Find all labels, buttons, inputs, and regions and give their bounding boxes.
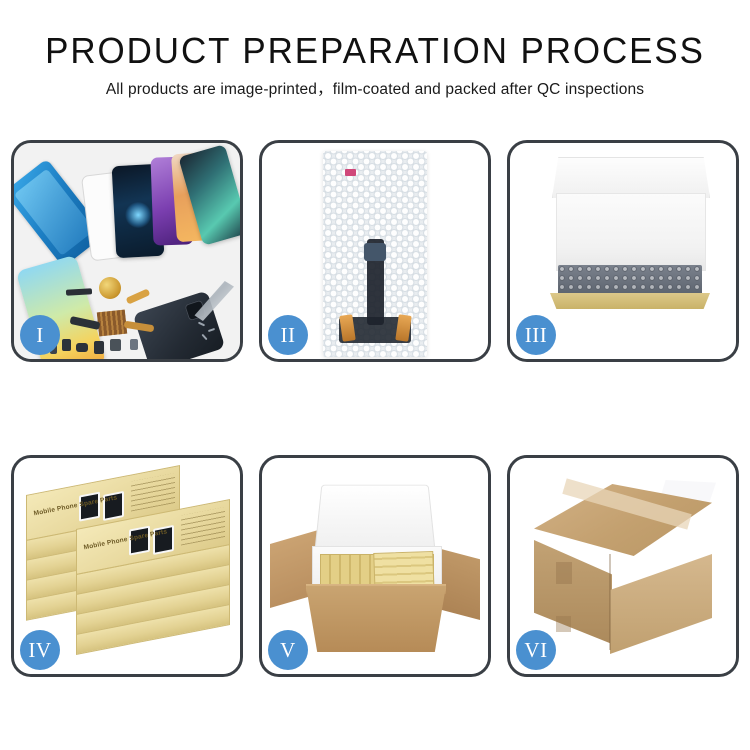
process-step-panel-3[interactable]: III bbox=[507, 140, 739, 362]
step-badge-3: III bbox=[516, 315, 556, 355]
small-component-icon bbox=[76, 343, 88, 352]
lcd-connector-icon bbox=[364, 243, 386, 261]
box-lid-icon bbox=[552, 157, 710, 198]
small-component-icon bbox=[62, 339, 71, 351]
process-step-grid: I II III bbox=[11, 140, 739, 677]
flex-cable-gold-icon bbox=[126, 288, 151, 304]
foam-sheet-icon bbox=[556, 193, 706, 271]
tray-front-panel-icon bbox=[550, 293, 710, 309]
step-badge-6: VI bbox=[516, 630, 556, 670]
process-step-panel-5[interactable]: V bbox=[259, 455, 491, 677]
page-title: PRODUCT PREPARATION PROCESS bbox=[11, 30, 739, 72]
box-text-lines-icon bbox=[131, 473, 175, 512]
carton-right-face-icon bbox=[610, 554, 712, 654]
small-component-icon bbox=[110, 339, 121, 351]
copper-coil-icon bbox=[99, 277, 121, 299]
small-component-icon bbox=[94, 341, 104, 354]
carton-tab-icon bbox=[556, 616, 571, 632]
step-badge-4: IV bbox=[20, 630, 60, 670]
process-step-panel-1[interactable]: I bbox=[11, 140, 243, 362]
foam-lid-icon bbox=[314, 485, 436, 554]
process-step-panel-2[interactable]: II bbox=[259, 140, 491, 362]
step-badge-1: I bbox=[20, 315, 60, 355]
step-badge-2: II bbox=[268, 315, 308, 355]
qc-sticker-icon bbox=[345, 169, 356, 176]
page-header: PRODUCT PREPARATION PROCESS All products… bbox=[0, 0, 750, 101]
small-component-icon bbox=[130, 339, 138, 350]
chip-array-icon bbox=[97, 310, 127, 337]
carton-body-icon bbox=[306, 586, 446, 652]
page-subtitle: All products are image-printed，film-coat… bbox=[0, 79, 750, 101]
speaker-icon bbox=[66, 288, 92, 295]
process-step-panel-4[interactable]: Mobile Phone Spare Parts Mobile Phone Sp… bbox=[11, 455, 243, 677]
step-badge-5: V bbox=[268, 630, 308, 670]
carton-edge-seam-icon bbox=[609, 554, 611, 650]
wrapped-parts-icon bbox=[558, 265, 702, 295]
box-text-lines-icon bbox=[181, 507, 225, 546]
screws-icon bbox=[198, 321, 228, 343]
process-step-panel-6[interactable]: VI bbox=[507, 455, 739, 677]
carton-tab-icon bbox=[556, 562, 572, 584]
carton-left-face-icon bbox=[534, 540, 612, 644]
